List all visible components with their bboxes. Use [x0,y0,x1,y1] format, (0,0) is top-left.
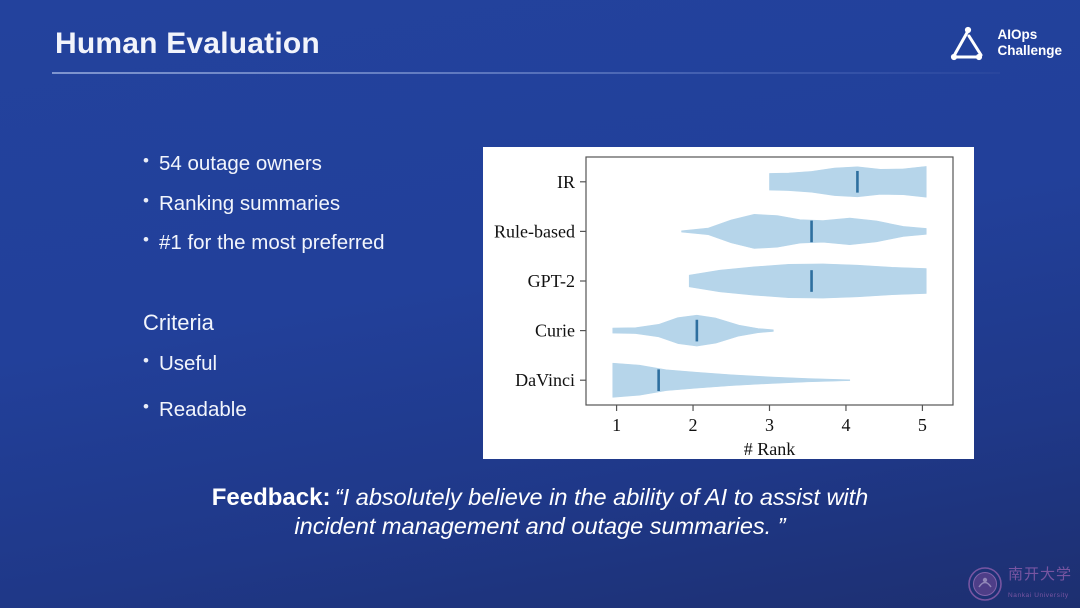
nankai-name-en: Nankai University [1008,592,1069,599]
list-item-label: Useful [159,350,217,378]
violin-gpt-2 [689,264,926,298]
bullet-marker-icon: • [143,150,149,173]
criteria-heading: Criteria [143,310,214,336]
bullet-marker-icon: • [143,350,149,373]
list-item: • #1 for the most preferred [143,229,473,257]
x-tick-label: 5 [918,415,927,435]
list-item: • Useful [143,350,443,378]
x-tick-label: 3 [765,415,774,435]
aiops-logo-line2: Challenge [997,43,1062,58]
bullet-marker-icon: • [143,190,149,213]
x-tick-label: 2 [689,415,698,435]
violin-rule-based [682,214,927,248]
feedback-line2: incident management and outage summaries… [90,513,990,540]
violin-ir [770,166,927,197]
feedback-block: Feedback: “I absolutely believe in the a… [0,482,1080,540]
x-tick-label: 1 [612,415,621,435]
y-tick-label-rule-based: Rule-based [494,221,575,241]
y-tick-label-curie: Curie [535,321,575,341]
feedback-label: Feedback: [212,484,331,511]
nankai-university-logo: 南开大学 Nankai University [968,566,1072,602]
aiops-logo-text: AIOps Challenge [997,27,1062,59]
y-tick-label-ir: IR [557,172,575,192]
triangle-nodes-icon [948,24,988,62]
y-tick-label-davinci: DaVinci [515,370,575,390]
nankai-name-cn: 南开大学 [1008,565,1072,583]
violin-curie [613,315,774,346]
violin-davinci [613,363,850,397]
violin-chart-panel: 12345# RankIRRule-basedGPT-2CurieDaVinci [483,147,974,459]
x-axis-label: # Rank [744,439,796,459]
list-item: • 54 outage owners [143,150,473,178]
page-title: Human Evaluation [55,27,320,61]
aiops-logo: AIOps Challenge [948,24,1062,62]
criteria-list: • Useful • Readable [143,350,443,441]
list-item: • Readable [143,396,443,424]
list-item-label: #1 for the most preferred [159,229,385,257]
list-item-label: 54 outage owners [159,150,322,178]
university-seal-icon [968,567,1002,601]
list-item-label: Ranking summaries [159,190,340,218]
aiops-logo-line1: AIOps [997,27,1037,42]
x-tick-label: 4 [841,415,850,435]
bullet-list: • 54 outage owners • Ranking summaries •… [143,150,473,269]
list-item: • Ranking summaries [143,190,473,218]
violin-chart: 12345# RankIRRule-basedGPT-2CurieDaVinci [483,147,974,459]
title-divider [52,72,1000,74]
feedback-quote-line2: incident management and outage summaries… [294,513,785,539]
feedback-quote-line1: “I absolutely believe in the ability of … [335,484,868,510]
list-item-label: Readable [159,396,247,424]
bullet-marker-icon: • [143,396,149,419]
y-tick-label-gpt-2: GPT-2 [528,271,575,291]
feedback-line1: Feedback: “I absolutely believe in the a… [90,482,990,513]
nankai-logo-text: 南开大学 Nankai University [1008,566,1072,602]
bullet-marker-icon: • [143,229,149,252]
